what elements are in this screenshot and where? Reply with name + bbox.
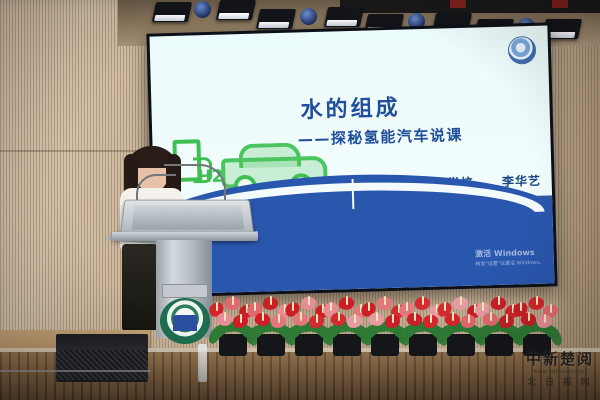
stage-spotlight — [256, 9, 296, 29]
bloom-spadix — [430, 314, 432, 323]
car-roof — [239, 142, 302, 168]
windows-activation-watermark: 激活 Windows 转到"设置"以激活 Windows。 — [475, 247, 544, 268]
bloom-spadix — [300, 312, 302, 321]
bloom-spadix — [354, 314, 356, 323]
bloom-spadix — [422, 296, 424, 305]
stage-spotlight — [324, 7, 364, 27]
bloom-spadix — [460, 296, 462, 305]
bloom-spadix — [278, 314, 280, 323]
bloom-spadix — [544, 314, 546, 323]
bloom-spadix — [270, 296, 272, 305]
school-crest-logo — [508, 36, 537, 65]
watermark-subline: 北 日 报 网 — [526, 375, 594, 388]
bloom-spadix — [240, 314, 242, 323]
bloom-spadix — [528, 312, 530, 321]
bloom-spadix — [520, 302, 522, 311]
watermark-line-2: 转到"设置"以激活 Windows。 — [475, 259, 544, 268]
bloom-spadix — [498, 296, 500, 305]
bloom-spadix — [392, 314, 394, 323]
bloom-spadix — [376, 312, 378, 321]
school-emblem — [160, 298, 210, 344]
bloom-spadix — [482, 302, 484, 311]
bloom-spadix — [490, 312, 492, 321]
spotlight-blue-lens — [300, 8, 317, 25]
bloom-spadix — [468, 314, 470, 323]
bloom-spadix — [346, 296, 348, 305]
bloom-spadix — [224, 312, 226, 321]
stage-spotlight — [216, 0, 256, 20]
bloom-spadix — [406, 302, 408, 311]
lectern-monitor — [132, 205, 245, 230]
slide-title: 水的组成 — [151, 85, 550, 128]
bloom-spadix — [550, 304, 552, 313]
bloom-spadix — [444, 302, 446, 311]
anthurium-plant — [509, 294, 565, 356]
bloom-spadix — [414, 312, 416, 321]
microphone-gooseneck-left — [136, 174, 176, 202]
photograph-scene: 水的组成 ——探秘氢能汽车说课 武汉大学附属外语学校 李华艺 H2 — [0, 0, 600, 400]
news-agency-watermark: 中新楚阅 www.cnhubei.com 北 日 报 网 — [526, 348, 594, 388]
watermark-brand: 中新楚阅 — [526, 348, 594, 369]
ceiling-red-accent — [552, 0, 568, 8]
bloom-spadix — [368, 302, 370, 311]
bloom-spadix — [506, 314, 508, 323]
stage-spotlight — [152, 2, 192, 22]
bloom-spadix — [330, 302, 332, 311]
bloom-spadix — [308, 296, 310, 305]
bloom-spadix — [232, 296, 234, 305]
spotlight-blue-lens — [194, 1, 211, 18]
bloom-spadix — [292, 302, 294, 311]
emblem-building-graphic — [173, 315, 197, 331]
bloom-spadix — [254, 302, 256, 311]
bloom-spadix — [262, 312, 264, 321]
bloom-spadix — [338, 312, 340, 321]
bloom-spadix — [452, 312, 454, 321]
bloom-spadix — [384, 296, 386, 305]
bloom-spadix — [216, 302, 218, 311]
bloom-spadix — [316, 314, 318, 323]
lectern-control-panel — [162, 284, 208, 298]
bloom-spadix — [536, 296, 538, 305]
ceiling-red-accent — [450, 0, 466, 8]
watermark-line-1: 激活 Windows — [475, 247, 544, 260]
